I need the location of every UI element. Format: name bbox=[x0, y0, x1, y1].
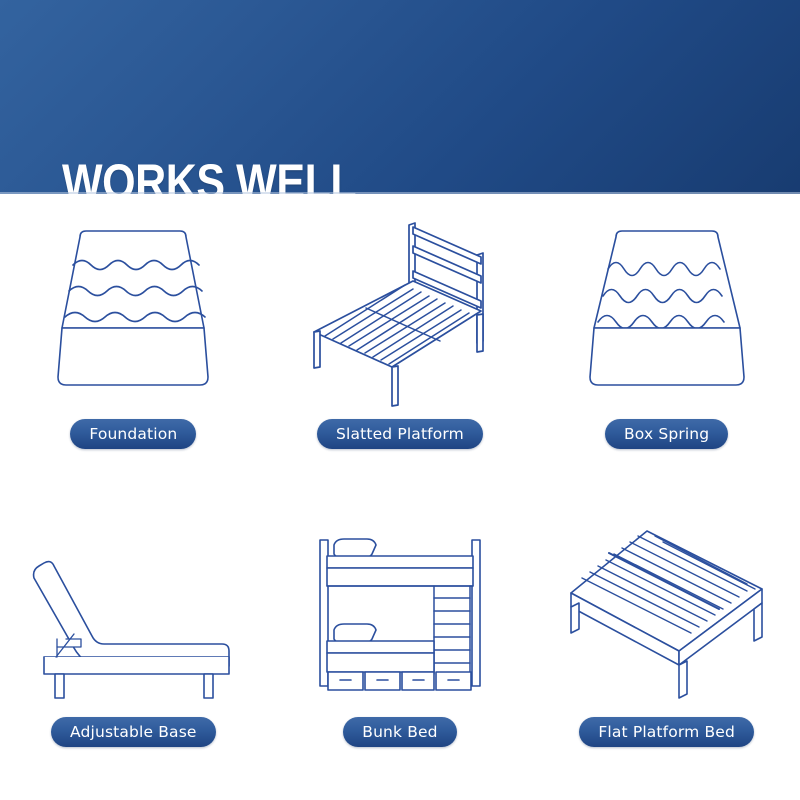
base-label-text: Bunk Bed bbox=[362, 723, 437, 741]
base-label-text: Slatted Platform bbox=[336, 425, 464, 443]
base-card-flat-platform-bed[interactable]: Flat Platform Bed bbox=[533, 497, 800, 800]
page-title: WORKS WELL WITH THESE BASES bbox=[62, 40, 480, 194]
base-label-pill[interactable]: Flat Platform Bed bbox=[579, 717, 754, 747]
adjustable-base-icon bbox=[18, 513, 248, 713]
title-line-1: WORKS WELL bbox=[62, 154, 480, 194]
base-label-text: Flat Platform Bed bbox=[598, 723, 735, 741]
base-card-adjustable-base[interactable]: Adjustable Base bbox=[0, 497, 267, 800]
base-card-foundation[interactable]: Foundation bbox=[0, 194, 267, 497]
header-banner: WORKS WELL WITH THESE BASES bbox=[0, 0, 800, 194]
bases-grid: Foundation bbox=[0, 194, 800, 800]
box-spring-icon bbox=[552, 210, 782, 415]
base-label-text: Box Spring bbox=[624, 425, 709, 443]
base-label-text: Foundation bbox=[89, 425, 177, 443]
base-label-text: Adjustable Base bbox=[70, 723, 197, 741]
base-label-pill[interactable]: Adjustable Base bbox=[51, 717, 216, 747]
base-label-pill[interactable]: Bunk Bed bbox=[343, 717, 456, 747]
promo-graphic: WORKS WELL WITH THESE BASES Found bbox=[0, 0, 800, 800]
slatted-platform-bed-icon bbox=[285, 210, 515, 415]
base-card-box-spring[interactable]: Box Spring bbox=[533, 194, 800, 497]
base-label-pill[interactable]: Box Spring bbox=[605, 419, 728, 449]
flat-platform-bed-icon bbox=[552, 513, 782, 713]
base-card-slatted-platform[interactable]: Slatted Platform bbox=[267, 194, 534, 497]
foundation-mattress-icon bbox=[18, 210, 248, 415]
base-label-pill[interactable]: Foundation bbox=[70, 419, 196, 449]
base-card-bunk-bed[interactable]: Bunk Bed bbox=[267, 497, 534, 800]
bunk-bed-icon bbox=[285, 513, 515, 713]
base-label-pill[interactable]: Slatted Platform bbox=[317, 419, 483, 449]
